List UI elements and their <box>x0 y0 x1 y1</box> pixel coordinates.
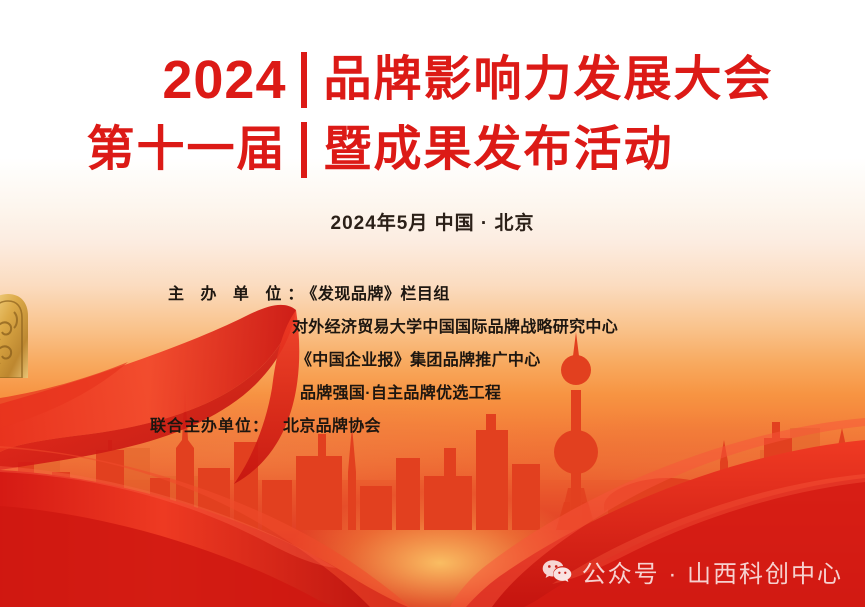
title-row-secondary: 第十一届 暨成果发布活动 <box>0 122 865 178</box>
title-divider-bar <box>301 52 307 108</box>
organizer-line: 对外经济贸易大学中国国际品牌战略研究中心 <box>0 311 865 344</box>
event-poster: 2024 品牌影响力发展大会 第十一届 暨成果发布活动 2024年5月 中国 ·… <box>0 0 865 607</box>
organizer-value: 品牌强国·自主品牌优选工程 <box>300 385 501 402</box>
organizer-line: 主 办 单 位：《发现品牌》栏目组 <box>0 278 865 311</box>
organizer-line: 《中国企业报》集团品牌推广中心 <box>0 344 865 377</box>
watermark-text: 公众号 · 山西科创中心 <box>582 554 843 589</box>
organizer-block: 主 办 单 位：《发现品牌》栏目组 对外经济贸易大学中国国际品牌战略研究中心 《… <box>0 278 865 443</box>
event-date-location: 2024年5月 中国 · 北京 <box>0 208 865 235</box>
watermark: 公众号 · 山西科创中心 <box>542 554 843 589</box>
organizer-line: 联合主办单位：北京品牌协会 <box>0 410 865 443</box>
organizer-label: 主 办 单 位： <box>168 286 309 303</box>
title-year: 2024 <box>72 53 287 107</box>
poster-title-block: 2024 品牌影响力发展大会 第十一届 暨成果发布活动 <box>0 52 865 178</box>
organizer-value: 《发现品牌》栏目组 <box>309 286 450 303</box>
title-main-line1: 品牌影响力发展大会 <box>324 56 794 104</box>
organizer-line: 品牌强国·自主品牌优选工程 <box>0 377 865 410</box>
organizer-label: 联合主办单位： <box>150 418 269 435</box>
organizer-value: 《中国企业报》集团品牌推广中心 <box>296 352 541 369</box>
organizer-value: 对外经济贸易大学中国国际品牌战略研究中心 <box>292 319 618 336</box>
title-edition: 第十一届 <box>72 126 287 174</box>
title-row-primary: 2024 品牌影响力发展大会 <box>0 52 865 108</box>
organizer-value: 北京品牌协会 <box>283 418 381 435</box>
title-divider-bar-2 <box>301 122 307 178</box>
wechat-icon <box>542 559 572 585</box>
title-main-line2: 暨成果发布活动 <box>324 126 794 174</box>
